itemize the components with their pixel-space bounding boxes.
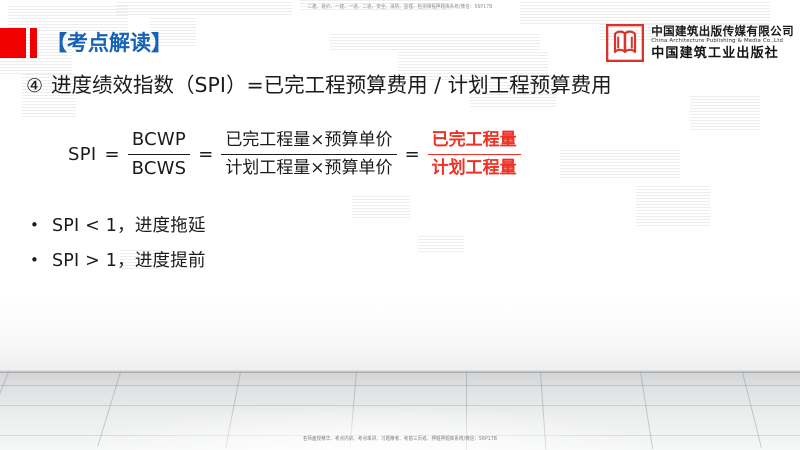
list-item-label: SPI < 1，进度拖延 bbox=[52, 212, 206, 237]
bullet-list: • SPI < 1，进度拖延 • SPI > 1，进度提前 bbox=[30, 212, 206, 282]
bullet-marker-icon: • bbox=[30, 216, 52, 234]
watermark-bottom: 名师面授精华、考点内训、考点串讲、习题精考、考前三页纸、押题押题库系统/微信：5… bbox=[0, 436, 800, 443]
fraction-denominator: BCWS bbox=[128, 157, 191, 181]
bullet-marker-icon: • bbox=[30, 251, 52, 269]
formula-equals-1: = bbox=[105, 144, 120, 165]
page-title: 【考点解读】 bbox=[46, 26, 172, 60]
slide-canvas: 二建、造价、一建、一造、二造、安全、消防、监理、检测课程押题库系统/微信：56P… bbox=[0, 0, 800, 450]
fraction-quantity-unitprice: 已完工程量×预算单价 计划工程量×预算单价 bbox=[221, 129, 396, 179]
fraction-numerator: 已完工程量 bbox=[428, 129, 521, 151]
formula-lhs: SPI bbox=[68, 144, 97, 165]
fraction-numerator: BCWP bbox=[128, 128, 190, 152]
publisher-name-en: China Architecture Publishing & Media Co… bbox=[651, 39, 794, 45]
formula-equals-2: = bbox=[198, 144, 213, 165]
publisher-name-cn: 中国建筑出版传媒有限公司 bbox=[651, 26, 794, 38]
fraction-denominator: 计划工程量×预算单价 bbox=[221, 157, 396, 179]
accent-block-wide bbox=[0, 28, 26, 58]
fraction-bar bbox=[428, 154, 521, 156]
spi-formula: SPI = BCWP BCWS = 已完工程量×预算单价 计划工程量×预算单价 … bbox=[68, 128, 521, 181]
publisher-logo-text: 中国建筑出版传媒有限公司 China Architecture Publishi… bbox=[651, 26, 794, 60]
watermark-top: 二建、造价、一建、一造、二造、安全、消防、监理、检测课程押题库系统/微信：56P… bbox=[0, 4, 800, 11]
content-heading: ④进度绩效指数（SPI）=已完工程预算费用 / 计划工程预算费用 bbox=[26, 68, 612, 98]
fraction-numerator: 已完工程量×预算单价 bbox=[221, 129, 396, 151]
heading-number: ④ bbox=[26, 75, 43, 97]
list-item: • SPI < 1，进度拖延 bbox=[30, 212, 206, 247]
formula-equals-3: = bbox=[405, 144, 420, 165]
heading-text: 进度绩效指数（SPI）=已完工程预算费用 / 计划工程预算费用 bbox=[51, 73, 612, 97]
publisher-logo: 中国建筑出版传媒有限公司 China Architecture Publishi… bbox=[606, 24, 794, 62]
open-book-logo-icon bbox=[606, 24, 644, 62]
fraction-bar bbox=[128, 154, 191, 156]
fraction-bcwp-bcws: BCWP BCWS bbox=[128, 128, 191, 181]
list-item-label: SPI > 1，进度提前 bbox=[52, 247, 206, 272]
list-item: • SPI > 1，进度提前 bbox=[30, 247, 206, 282]
fraction-denominator: 计划工程量 bbox=[428, 157, 521, 179]
publisher-imprint-cn: 中国建筑工业出版社 bbox=[651, 47, 794, 60]
fraction-bar bbox=[221, 154, 396, 156]
accent-block-thin bbox=[30, 28, 37, 58]
fraction-quantity-highlight: 已完工程量 计划工程量 bbox=[428, 129, 521, 180]
